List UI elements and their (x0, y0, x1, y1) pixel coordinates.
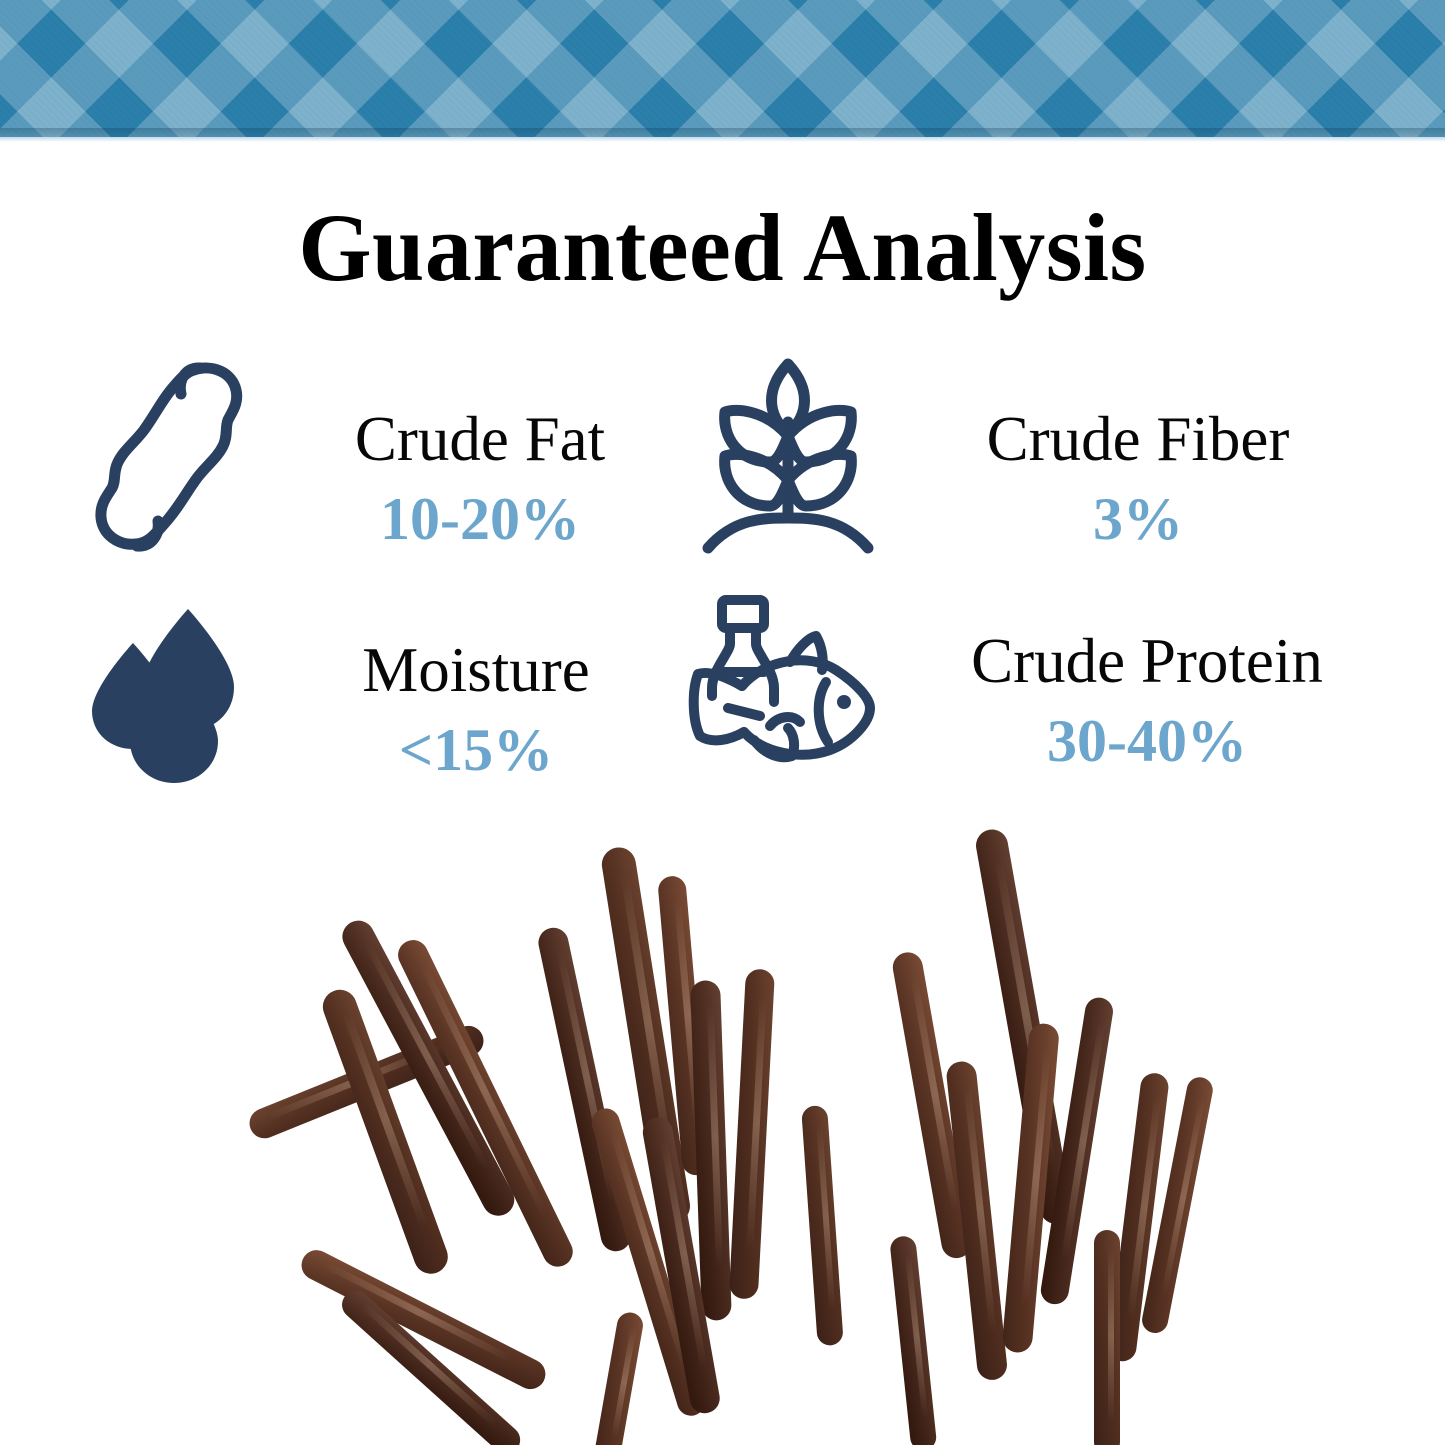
nutrition-label: Moisture (362, 635, 589, 705)
crude-fiber-labels: Crude Fiber 3% (876, 352, 1400, 552)
nutrition-value: 10-20% (380, 486, 580, 552)
product-photo-dog-treats (215, 815, 1225, 1445)
nutrition-value: 3% (1093, 486, 1183, 552)
nutrition-label: Crude Fat (355, 404, 605, 474)
treat-pile-illustration (215, 815, 1225, 1445)
nutrition-item-crude-fiber: Crude Fiber 3% (700, 352, 1400, 556)
pattern-texture-overlay (0, 0, 1445, 137)
nutrition-grid: Crude Fat 10-20% (72, 352, 1392, 802)
header-pattern-band (0, 0, 1445, 137)
crude-protein-labels: Crude Protein 30-40% (894, 584, 1400, 774)
nutrition-value: <15% (399, 717, 553, 783)
moisture-labels: Moisture <15% (250, 597, 702, 783)
nutrition-label: Crude Protein (971, 626, 1323, 696)
gingham-diamond-pattern (0, 0, 1445, 137)
nutrition-item-crude-protein: Crude Protein 30-40% (672, 584, 1400, 776)
wheat-plant-icon (700, 350, 876, 556)
guaranteed-analysis-infographic: Guaranteed Analysis Crude Fat 10-20% (0, 0, 1445, 1445)
header-underline-glow (0, 137, 1445, 142)
nutrition-value: 30-40% (1047, 708, 1247, 774)
bone-icon (82, 354, 258, 554)
header-bottom-shadow (0, 128, 1445, 137)
nutrition-item-crude-fat: Crude Fat 10-20% (82, 352, 702, 554)
page-title: Guaranteed Analysis (14, 196, 1430, 300)
nutrition-label: Crude Fiber (987, 404, 1290, 474)
water-droplets-icon (92, 603, 250, 789)
nutrition-item-moisture: Moisture <15% (82, 597, 702, 789)
crude-fat-labels: Crude Fat 10-20% (258, 352, 702, 552)
fish-oil-icon (684, 590, 894, 776)
